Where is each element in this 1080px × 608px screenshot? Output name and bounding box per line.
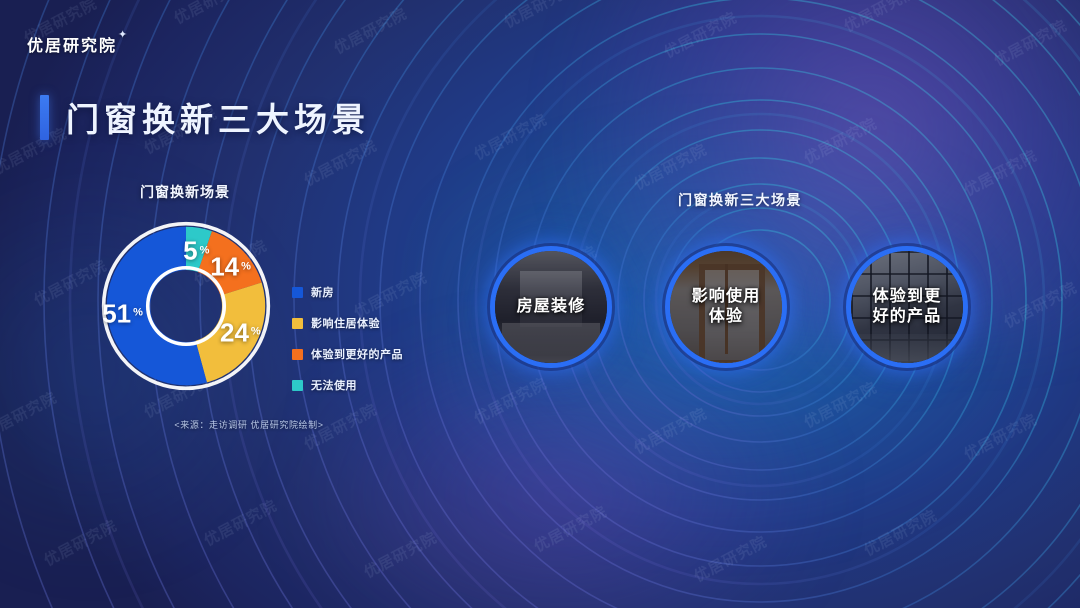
slice-label-blue: 51% [102,298,143,329]
slide-canvas: 优居研究院 优居研究院 优居研究院 优居研究院 优居研究院 优居研究院 优居研究… [0,0,1080,608]
legend-label: 影响住居体验 [311,315,380,331]
donut-chart: 51% 24% 14% 5% 新房影响住居体验体验到更好的产品无法使用 [86,216,286,396]
scene-caption-line: 体验 [692,307,761,327]
slice-label-cyan: 5% [183,235,209,266]
chart-source-note: <来源：走访调研 优居研究院绘制> [104,418,394,431]
legend-item[interactable]: 影响住居体验 [292,315,403,331]
title-accent-bar [40,95,49,140]
sparkle-icon: ✦ [118,30,129,41]
scene-caption: 房屋装修 [517,297,586,317]
watermark-text: 优居研究院 [360,526,441,582]
legend-swatch [292,287,303,298]
scene-caption: 体验到更好的产品 [873,287,942,328]
chart-title: 门窗换新场景 [140,182,426,202]
watermark-text: 优居研究院 [330,2,411,58]
watermark-text: 优居研究院 [860,504,941,560]
watermark-text: 优居研究院 [530,500,611,556]
scene-circle-3[interactable]: 体验到更好的产品 [846,246,968,368]
scene-caption: 影响使用体验 [692,287,761,328]
scene-caption-line: 房屋装修 [517,297,586,317]
slice-label-yellow: 24% [220,317,261,348]
brand-logo: 优居研究院 ✦ [27,32,129,56]
watermark-text: 优居研究院 [470,108,551,164]
watermark-text: 优居研究院 [40,514,121,570]
watermark-text: 优居研究院 [170,0,251,29]
legend-item[interactable]: 新房 [292,284,403,300]
slice-label-orange: 14% [210,252,251,283]
scene-caption-line: 好的产品 [873,307,942,327]
scenes-panel-title: 门窗换新三大场景 [460,190,1020,210]
legend-swatch [292,349,303,360]
scene-circle-1[interactable]: 房屋装修 [490,246,612,368]
chart-legend: 新房影响住居体验体验到更好的产品无法使用 [292,284,403,408]
watermark-text: 优居研究院 [800,112,881,168]
legend-swatch [292,318,303,329]
watermark-text: 优居研究院 [200,494,281,550]
watermark-text: 优居研究院 [660,6,741,62]
watermark-text: 优居研究院 [690,530,771,586]
page-title: 门窗换新三大场景 [40,93,370,141]
watermark-text: 优居研究院 [840,0,921,37]
scene-caption-line: 影响使用 [692,287,761,307]
brand-logo-text: 优居研究院 [27,32,117,56]
scene-caption-line: 体验到更 [873,287,942,307]
scene-circle-2[interactable]: 影响使用体验 [665,246,787,368]
legend-label: 新房 [311,284,334,300]
watermark-text: 优居研究院 [990,14,1071,70]
watermark-text: 优居研究院 [500,0,581,33]
watermark-text: 优居研究院 [0,386,61,442]
page-title-text: 门窗换新三大场景 [66,93,370,141]
legend-item[interactable]: 体验到更好的产品 [292,346,403,362]
donut-chart-panel: 门窗换新场景 51% 24% 14% 5% 新房影响住居体验体验到更好的产品无法… [86,182,426,396]
legend-item[interactable]: 无法使用 [292,377,403,393]
legend-label: 无法使用 [311,377,357,393]
legend-swatch [292,380,303,391]
scenes-panel: 门窗换新三大场景 房屋装修 影响使用体验 体验到更好的产品 [460,182,1020,422]
legend-label: 体验到更好的产品 [311,346,403,362]
